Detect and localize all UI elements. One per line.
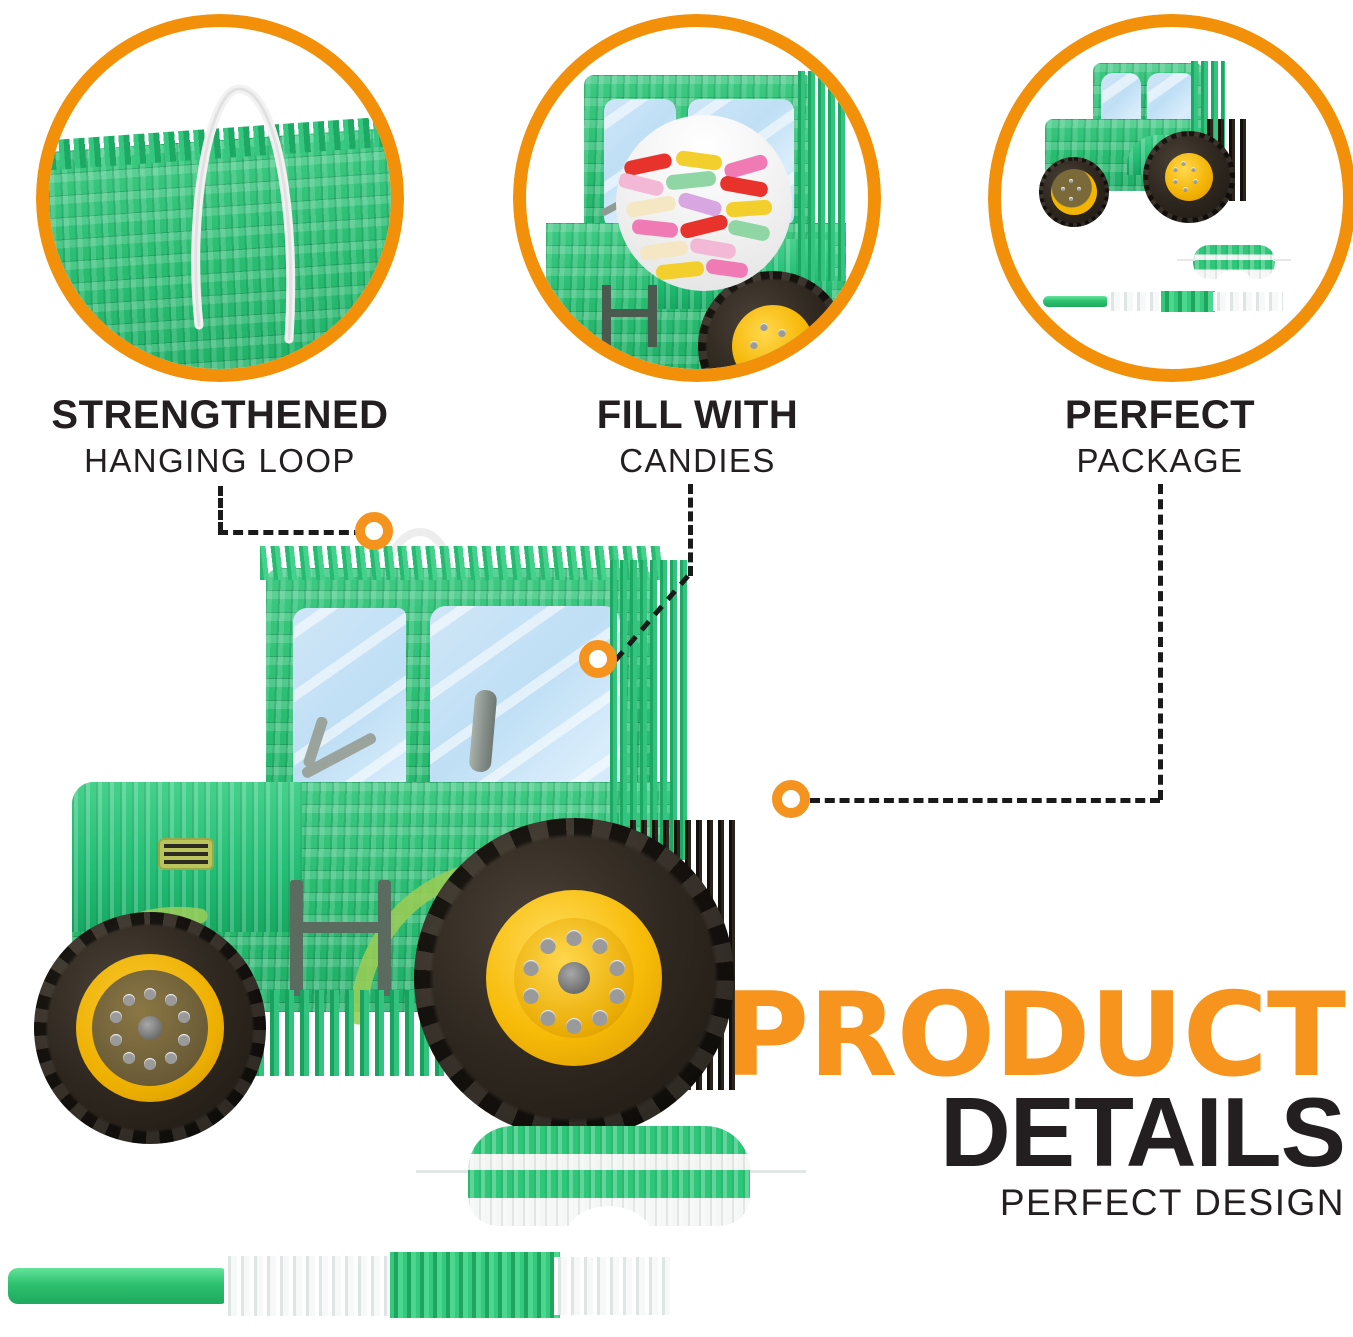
callout-circle-fill-with-candies [513,14,881,382]
mini-tractor [1031,57,1281,247]
stick-handle [8,1268,230,1304]
callout-photo-candies [526,27,868,369]
label-title: STRENGTHENED [10,395,430,435]
marker-dot-hanging-loop [355,512,393,550]
mini-blindfold [1193,245,1275,279]
label-subtitle: PACKAGE [965,444,1353,479]
marker-dot-candies [579,640,617,678]
callout-circle-perfect-package [988,14,1353,382]
label-subtitle: CANDIES [490,444,905,479]
connector-line-hanging-loop-horizontal [218,530,364,535]
pinata-stick [8,1252,668,1318]
connector-line-hanging-loop-vertical [218,486,223,532]
stick-green-fringe [390,1252,560,1318]
label-subtitle: HANGING LOOP [10,444,430,479]
mini-stick [1043,291,1283,311]
connector-line-candies-vertical [688,484,693,576]
callout-circle-hanging-loop [36,14,404,382]
stick-white-fringe-1 [224,1256,396,1316]
connector-line-package-horizontal [810,798,1160,803]
hanging-loop-icon [49,27,391,369]
callout-photo-hanging-loop [49,27,391,369]
marker-dot-package [772,780,810,818]
label-perfect-package: PERFECT PACKAGE [965,395,1353,479]
headline-subtitle: PERFECT DESIGN [700,1184,1345,1221]
infographic-canvas: STRENGTHENED HANGING LOOP FILL WITH CAND… [0,0,1353,1337]
tractor-rear-wheel [414,818,734,1138]
headline-block: PRODUCT DETAILS PERFECT DESIGN [700,986,1345,1221]
tractor-grille-vent [158,838,214,870]
tractor-ladder [290,880,410,1000]
stick-white-fringe-2 [554,1257,670,1315]
tractor-front-wheel [34,912,266,1144]
headline-product: PRODUCT [700,986,1345,1086]
label-hanging-loop: STRENGTHENED HANGING LOOP [10,395,430,479]
callout-photo-package [1001,27,1343,369]
connector-line-package-vertical [1158,484,1163,800]
label-title: PERFECT [965,395,1353,435]
label-title: FILL WITH [490,395,905,435]
label-fill-with-candies: FILL WITH CANDIES [490,395,905,479]
